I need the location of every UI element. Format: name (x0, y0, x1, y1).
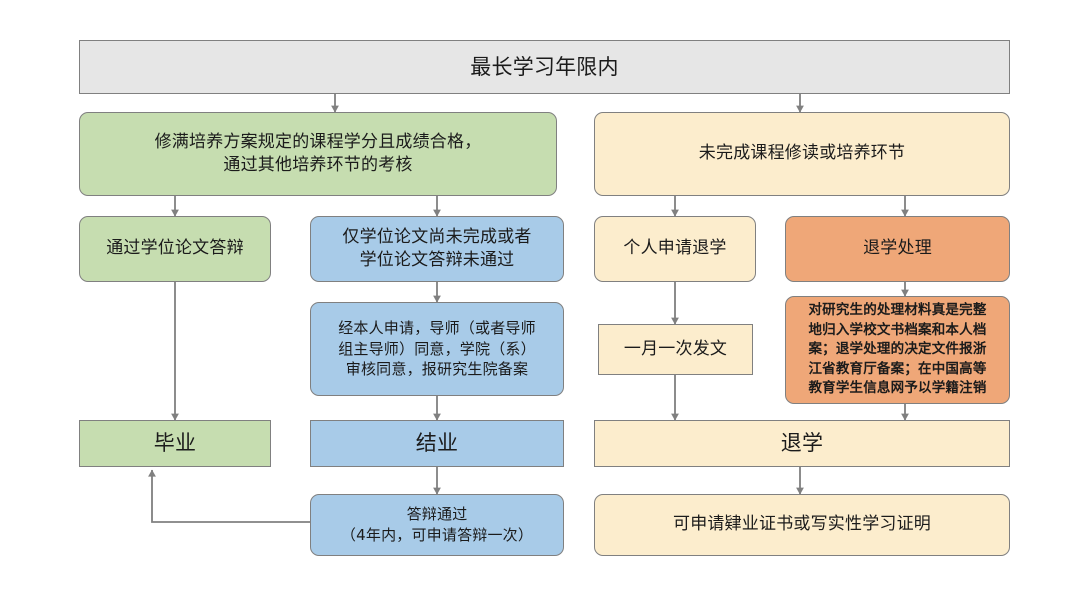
node-approval-chain: 经本人申请，导师（或者导师 组主导师）同意，学院（系） 审核同意，报研究生院备案 (310, 302, 564, 396)
node-thesis-passed: 通过学位论文答辩 (79, 216, 271, 282)
node-personal-withdraw-application: 个人申请退学 (594, 216, 756, 282)
node-right-branch: 未完成课程修读或培养环节 (594, 112, 1010, 196)
node-root: 最长学习年限内 (79, 40, 1010, 94)
node-completion: 结业 (310, 420, 564, 467)
connector-defense-to-graduate (152, 470, 310, 522)
node-certificate-option: 可申请肄业证书或写实性学习证明 (594, 494, 1010, 556)
node-thesis-incomplete: 仅学位论文尚未完成或者 学位论文答辩未通过 (310, 216, 564, 282)
node-withdraw: 退学 (594, 420, 1010, 467)
node-defense-passed: 答辩通过 （4年内，可申请答辩一次） (310, 494, 564, 556)
node-withdraw-processing: 退学处理 (785, 216, 1010, 282)
node-withdraw-archive-note: 对研究生的处理材料真是完整 地归入学校文书档案和本人档 案；退学处理的决定文件报… (785, 296, 1010, 404)
flowchart-canvas: 最长学习年限内 修满培养方案规定的课程学分且成绩合格， 通过其他培养环节的考核 … (0, 0, 1088, 595)
node-monthly-notice: 一月一次发文 (598, 324, 753, 375)
node-graduate: 毕业 (79, 420, 271, 467)
node-left-branch: 修满培养方案规定的课程学分且成绩合格， 通过其他培养环节的考核 (79, 112, 557, 196)
